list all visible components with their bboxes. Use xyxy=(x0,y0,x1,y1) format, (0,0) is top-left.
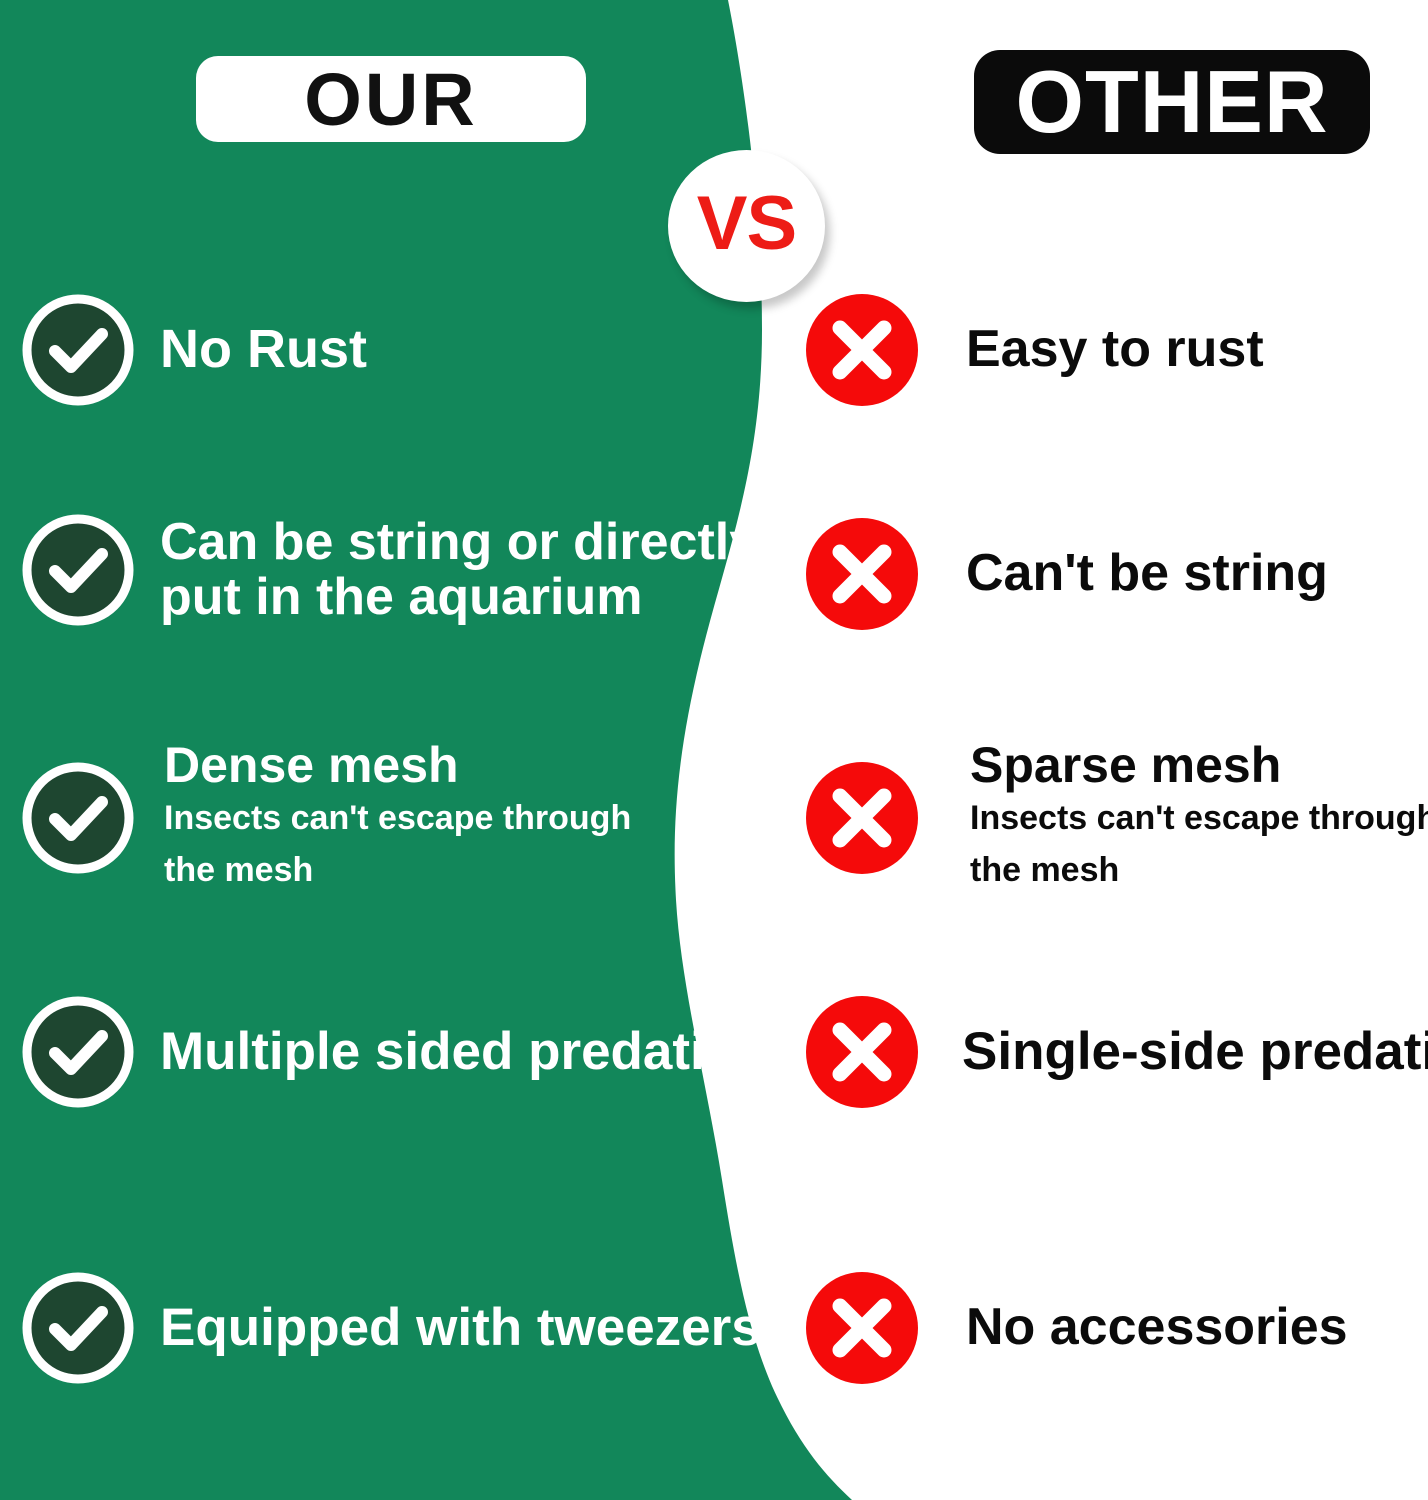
feature-text-block: Multiple sided predation xyxy=(160,1025,770,1079)
other-feature-row: Can't be string xyxy=(806,518,1328,630)
feature-title: Sparse mesh xyxy=(970,740,1428,791)
feature-title: Easy to rust xyxy=(966,323,1264,376)
other-feature-row: No accessories xyxy=(806,1272,1348,1384)
check-circle-icon xyxy=(22,514,134,626)
feature-text-block: Equipped with tweezers xyxy=(160,1301,761,1355)
feature-title: No accessories xyxy=(966,1301,1348,1354)
feature-title: Single-side predation xyxy=(962,1025,1428,1079)
vs-label: VS xyxy=(697,186,796,262)
our-feature-row: Equipped with tweezers xyxy=(22,1272,761,1384)
feature-title: Can't be string xyxy=(966,547,1328,600)
cross-circle-icon xyxy=(806,294,918,406)
cross-circle-icon xyxy=(806,518,918,630)
other-feature-row: Easy to rust xyxy=(806,294,1264,406)
feature-text-block: Sparse mesh Insects can't escape through… xyxy=(970,740,1428,896)
feature-title: Can be string or directly put in the aqu… xyxy=(160,515,758,625)
feature-text-block: Can't be string xyxy=(966,547,1328,600)
feature-text-block: Easy to rust xyxy=(966,323,1264,376)
feature-text-block: No Rust xyxy=(160,322,367,377)
our-badge-label: OUR xyxy=(304,57,477,142)
other-badge: OTHER xyxy=(974,50,1370,154)
feature-title: Multiple sided predation xyxy=(160,1025,770,1079)
our-badge: OUR xyxy=(196,56,586,142)
cross-circle-icon xyxy=(806,996,918,1108)
cross-circle-icon xyxy=(806,1272,918,1384)
our-feature-row: Dense mesh Insects can't escape through … xyxy=(22,740,631,896)
feature-text-block: Single-side predation xyxy=(962,1025,1428,1079)
check-circle-icon xyxy=(22,1272,134,1384)
feature-title: Dense mesh xyxy=(164,740,631,791)
check-circle-icon xyxy=(22,294,134,406)
feature-text-block: Dense mesh Insects can't escape through … xyxy=(164,740,631,896)
other-badge-label: OTHER xyxy=(1016,51,1329,153)
vs-badge: VS xyxy=(668,150,825,302)
our-feature-row: Can be string or directly put in the aqu… xyxy=(22,514,758,626)
feature-text-block: Can be string or directly put in the aqu… xyxy=(160,515,758,625)
cross-circle-icon xyxy=(806,762,918,874)
other-feature-row: Single-side predation xyxy=(806,996,1428,1108)
feature-text-block: No accessories xyxy=(966,1301,1348,1354)
our-feature-row: Multiple sided predation xyxy=(22,996,770,1108)
check-circle-icon xyxy=(22,762,134,874)
feature-title: Equipped with tweezers xyxy=(160,1301,761,1355)
our-feature-row: No Rust xyxy=(22,294,367,406)
comparison-infographic: OUR OTHER VS No Rust Can be string or di… xyxy=(0,0,1428,1500)
check-circle-icon xyxy=(22,996,134,1108)
other-feature-row: Sparse mesh Insects can't escape through… xyxy=(806,740,1428,896)
feature-subtitle: Insects can't escape through the mesh xyxy=(970,793,1428,896)
feature-title: No Rust xyxy=(160,322,367,377)
feature-subtitle: Insects can't escape through the mesh xyxy=(164,793,631,896)
